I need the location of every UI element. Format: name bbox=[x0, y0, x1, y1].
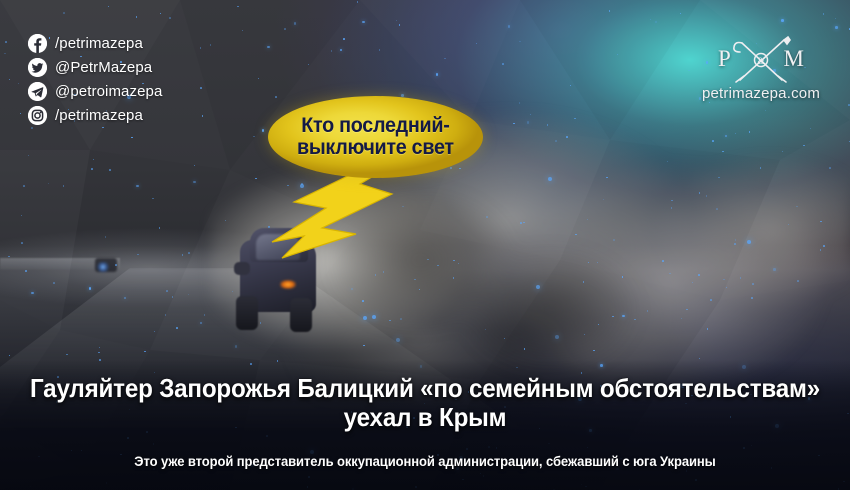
social-item-facebook[interactable]: /petrimazepa bbox=[28, 32, 162, 54]
logo-letter-left: P bbox=[718, 46, 731, 72]
speech-bubble-line2: выключите свет bbox=[297, 136, 454, 159]
car-wheel-left bbox=[236, 296, 258, 330]
social-item-instagram[interactable]: /petrimazepa bbox=[28, 104, 162, 126]
headline-line2: уехал в Крым bbox=[344, 402, 507, 432]
car-taillight bbox=[280, 280, 296, 289]
speech-bubble-text: Кто последний- выключите свет bbox=[288, 115, 464, 159]
telegram-icon bbox=[28, 82, 47, 101]
social-handle: /petrimazepa bbox=[55, 107, 143, 124]
social-item-twitter[interactable]: @PetrMazepa bbox=[28, 56, 162, 78]
social-item-telegram[interactable]: @petroimazepa bbox=[28, 80, 162, 102]
car-wheel-right bbox=[290, 298, 312, 332]
headline-line1: Гауляйтер Запорожья Балицкий «по семейны… bbox=[30, 373, 820, 403]
car-side-mirror bbox=[234, 262, 250, 275]
subheadline: Это уже второй представитель оккупационн… bbox=[30, 453, 821, 469]
twitter-icon bbox=[28, 58, 47, 77]
poster-image: Кто последний- выключите свет /petrimaze… bbox=[0, 0, 850, 490]
instagram-icon bbox=[28, 106, 47, 125]
speech-bubble: Кто последний- выключите свет bbox=[268, 96, 483, 178]
facebook-icon bbox=[28, 34, 47, 53]
logo-letter-right: M bbox=[784, 46, 804, 72]
crossed-quill-and-sword-icon: & P M bbox=[700, 34, 822, 84]
social-handle: @PetrMazepa bbox=[55, 59, 152, 76]
social-handle: /petrimazepa bbox=[55, 35, 143, 52]
social-links: /petrimazepa @PetrMazepa @petroimazepa bbox=[28, 32, 162, 128]
speech-bubble-line1: Кто последний- bbox=[301, 114, 449, 137]
site-logo[interactable]: & P M petrimazepa.com bbox=[700, 34, 822, 102]
logo-letters: P M bbox=[700, 34, 822, 84]
logo-url[interactable]: petrimazepa.com bbox=[700, 85, 822, 102]
headline: Гауляйтер Запорожья Балицкий «по семейны… bbox=[30, 374, 821, 433]
social-handle: @petroimazepa bbox=[55, 83, 162, 100]
